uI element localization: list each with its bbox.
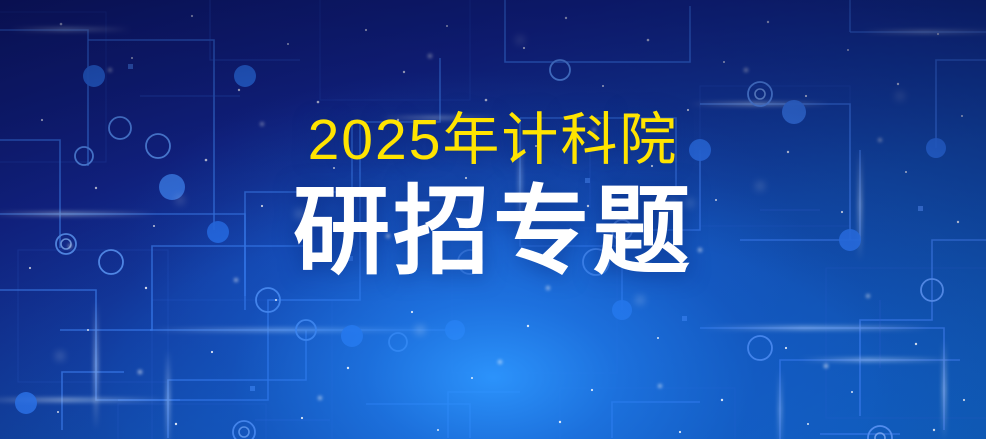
banner-headline: 2025年计科院 研招专题	[0, 112, 986, 280]
admissions-banner: 2025年计科院 研招专题	[0, 0, 986, 439]
banner-title-line-2: 研招专题	[0, 183, 986, 280]
banner-title-line-1: 2025年计科院	[0, 112, 986, 169]
